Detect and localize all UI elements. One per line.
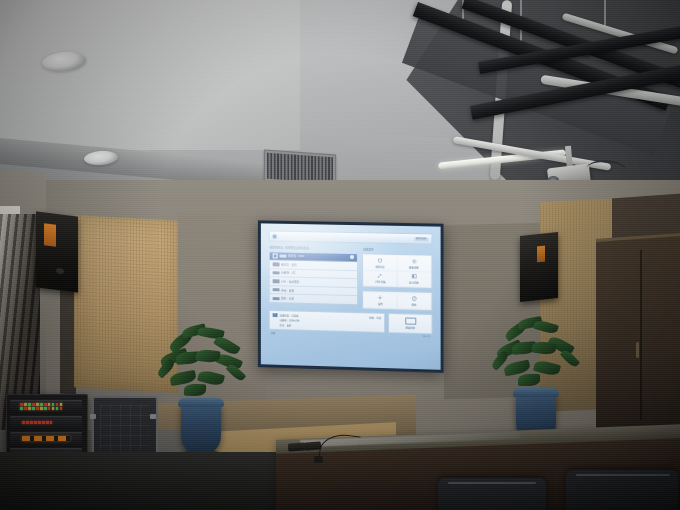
footer-version: Ver 2.1 [423, 335, 431, 339]
rack-led-row [22, 421, 52, 424]
wall-speaker-right [520, 232, 558, 302]
ui-titlebar-left [273, 234, 277, 238]
status-badge: IP [273, 313, 278, 317]
projected-image-area: EPSON 投影机列表 / 选择要连接的投影机... 投影机 - 0001 [261, 223, 441, 369]
led-indicator [56, 403, 59, 406]
projector-utility-ui: EPSON 投影机列表 / 选择要连接的投影机... 投影机 - 0001 [261, 223, 441, 369]
conference-room-photo: EPSON 投影机列表 / 选择要连接的投影机... 投影机 - 0001 [0, 0, 680, 510]
vent-louvers [267, 153, 333, 184]
led-indicator [50, 421, 53, 424]
ui-right-column: 功能菜单 梯形校正 [362, 247, 433, 311]
function-tile-grid-secondary: 设置 帮助 [362, 290, 433, 311]
footer-status: 就绪 [271, 331, 276, 335]
projector-icon [272, 280, 279, 284]
tile-label: 图像调整 [409, 265, 419, 269]
cabinet-seam [640, 250, 642, 420]
led-indicator [28, 403, 31, 406]
chair-highlight [576, 474, 670, 476]
conference-chair-2 [566, 470, 678, 510]
tile-label: 显示切换 [409, 280, 419, 284]
leaf [518, 374, 540, 386]
pot-rim [178, 398, 224, 407]
wood-cabinet-door [596, 233, 680, 432]
pot-rim [513, 388, 559, 397]
help-icon [411, 295, 417, 301]
led-indicator [38, 421, 41, 424]
list-item-label: 历史 - 记录 [281, 297, 294, 301]
keyboard-shortcut-button[interactable]: 键盘快捷 [388, 313, 432, 334]
led-indicator [28, 407, 31, 410]
speaker-badge [537, 246, 545, 263]
led-indicator [56, 407, 59, 410]
tile-usb[interactable]: USB 传输 [364, 271, 396, 286]
case-latch[interactable] [90, 414, 96, 419]
led-indicator [20, 407, 23, 410]
led-indicator [24, 407, 27, 410]
connection-info-panel: IP 连接状态：已连接 分辨率：1024x768 信号：良好 网络：有线 [269, 310, 385, 333]
list-item-label: 手动 - 设置 [281, 288, 294, 292]
info-line-1: 连接状态：已连接 [280, 313, 300, 318]
led-indicator [26, 421, 29, 424]
led-indicator [60, 407, 63, 410]
tile-help[interactable]: 帮助 [398, 294, 430, 309]
app-icon [273, 234, 277, 238]
list-item[interactable]: 历史 - 记录 [270, 295, 357, 305]
led-indicator [46, 421, 49, 424]
led-indicator [22, 421, 25, 424]
help-button-label: 键盘快捷 [405, 325, 415, 329]
tile-label: 帮助 [411, 303, 416, 307]
projector-icon [272, 288, 279, 292]
led-indicator [52, 407, 55, 410]
led-indicator [24, 403, 27, 406]
projector-icon [272, 271, 279, 275]
led-indicator [52, 403, 55, 406]
function-tile-grid: 梯形校正 图像调整 [362, 253, 433, 289]
tile-display[interactable]: 显示切换 [398, 272, 430, 287]
rack-led-row [20, 407, 62, 410]
keyboard-icon [405, 317, 416, 324]
projection-screen: EPSON 投影机列表 / 选择要连接的投影机... 投影机 - 0001 [258, 220, 444, 373]
led-indicator [48, 403, 51, 406]
projector-icon [272, 297, 279, 301]
led-indicator [32, 407, 35, 410]
ui-status-bar: IP 连接状态：已连接 分辨率：1024x768 信号：良好 网络：有线 键盘快… [267, 307, 435, 334]
list-item-label: 分会场 - 1号 [281, 271, 295, 275]
potted-plant-left [181, 400, 221, 456]
projector-icon [272, 263, 279, 267]
rack-led-row [20, 403, 62, 406]
ui-left-column: 投影机列表 / 选择要连接的投影机... 投影机 - 0001 [269, 245, 358, 309]
list-item-label: 投影机 - 0001 [288, 254, 304, 258]
brand-label: EPSON [414, 237, 428, 241]
led-indicator [30, 421, 33, 424]
info-right: 网络：有线 [369, 316, 381, 330]
tile-label: 设置 [378, 302, 383, 306]
led-indicator [36, 407, 39, 410]
tile-label: USB 传输 [375, 280, 385, 284]
speaker-driver-icon [56, 268, 64, 275]
checkbox-icon[interactable] [272, 253, 277, 258]
ui-body: 投影机列表 / 选择要连接的投影机... 投影机 - 0001 [267, 245, 435, 311]
list-item-lead: 投影机 - 0001 [272, 253, 304, 259]
display-icon [411, 273, 417, 279]
led-indicator [44, 403, 47, 406]
led-indicator [40, 403, 43, 406]
ui-titlebar: EPSON [269, 230, 433, 244]
function-menu-heading: 功能菜单 [363, 247, 433, 252]
case-latch[interactable] [150, 414, 156, 419]
list-item-label: 会议室 - 主机 [281, 262, 297, 266]
wall-speaker-left [36, 211, 78, 292]
led-indicator [34, 421, 37, 424]
tile-settings[interactable]: 设置 [364, 293, 396, 308]
chair-highlight [448, 482, 536, 484]
led-indicator [32, 403, 35, 406]
usb-icon [377, 273, 383, 279]
info-line-2: 分辨率：1024x768 [280, 318, 300, 323]
tile-keystone[interactable]: 梯形校正 [364, 255, 396, 270]
amplifier-level-bar [22, 436, 70, 441]
list-item-label: LAN - 自动搜索 [281, 279, 299, 283]
led-indicator [42, 421, 45, 424]
projector-icon [279, 254, 286, 258]
keystone-icon [377, 257, 383, 263]
info-left: IP 连接状态：已连接 分辨率：1024x768 信号：良好 [273, 313, 300, 327]
led-indicator [36, 403, 39, 406]
led-indicator [48, 407, 51, 410]
projector-list: 投影机 - 0001 会议室 - 主机 分会场 - 1号 [269, 251, 358, 305]
projector-list-heading: 投影机列表 / 选择要连接的投影机... [270, 245, 358, 251]
led-indicator [40, 407, 43, 410]
cabinet-handle[interactable] [636, 342, 639, 358]
microphone-base [314, 456, 323, 463]
settings-icon [377, 295, 383, 301]
ceiling-soffit [0, 0, 300, 150]
tile-brightness[interactable]: 图像调整 [398, 256, 430, 271]
tile-label: 梯形校正 [375, 264, 385, 268]
led-indicator [20, 403, 23, 406]
led-indicator [60, 403, 63, 406]
info-lines: 连接状态：已连接 分辨率：1024x768 信号：良好 [280, 313, 300, 327]
led-indicator [44, 407, 47, 410]
info-line-3: 信号：良好 [280, 323, 300, 328]
gear-icon[interactable] [350, 255, 354, 259]
speaker-badge [44, 223, 56, 246]
desk-device-1 [288, 442, 306, 451]
brightness-icon [411, 258, 417, 264]
